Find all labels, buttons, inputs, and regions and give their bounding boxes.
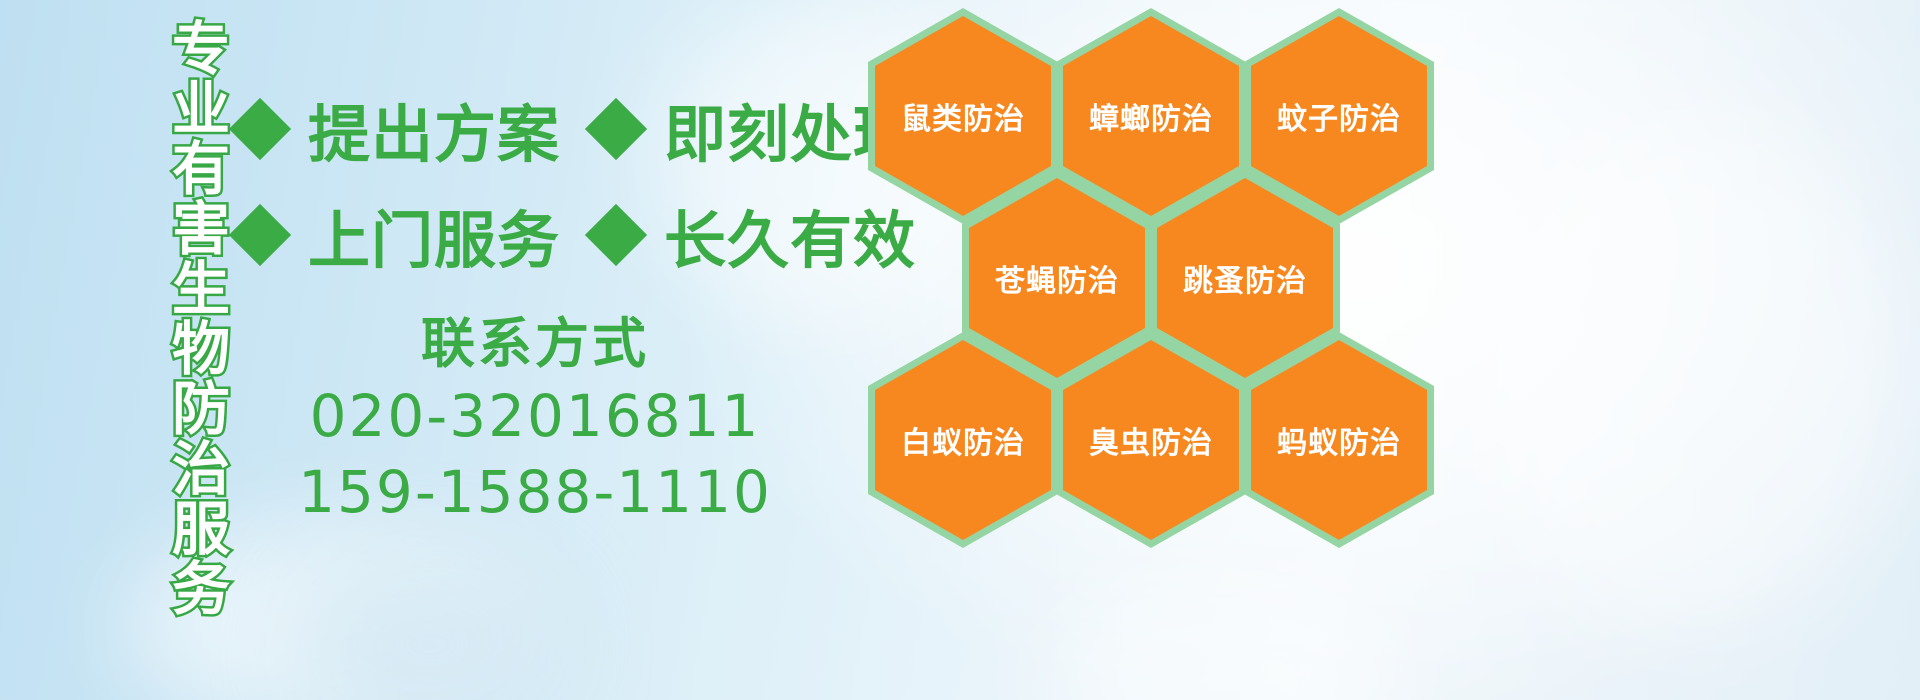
diamond-icon — [229, 204, 291, 266]
phone-number-mobile[interactable]: 159-1588-1110 — [255, 454, 815, 531]
service-label: 臭虫防治 — [1089, 418, 1213, 462]
service-hexagon-grid: 鼠类防治 蟑螂防治 蚊子防治 苍蝇防治 跳蚤防治 白蚁防 — [860, 0, 1480, 700]
contact-title: 联系方式 — [255, 310, 815, 378]
hexagon-fill: 鼠类防治 — [875, 16, 1051, 216]
service-label: 鼠类防治 — [901, 94, 1025, 138]
hexagon-fill: 苍蝇防治 — [969, 178, 1145, 378]
hexagon-fill: 跳蚤防治 — [1157, 178, 1333, 378]
hexagon-fill: 白蚁防治 — [875, 340, 1051, 540]
slogan-line-1: 提出方案 即刻处理 — [238, 84, 916, 174]
service-label: 白蚁防治 — [901, 418, 1025, 462]
slogan-item: 上门服务 — [308, 190, 560, 280]
service-label: 跳蚤防治 — [1183, 256, 1307, 300]
slogan-item: 提出方案 — [308, 84, 560, 174]
service-label: 蚂蚁防治 — [1277, 418, 1401, 462]
background-blur-shape — [1480, 120, 1910, 640]
background-blur-shape — [300, 560, 560, 700]
promo-banner: 专业有害生物防治服务 提出方案 即刻处理 上门服务 长久有效 联系方式 020-… — [0, 0, 1920, 700]
slogan-line-2: 上门服务 长久有效 — [238, 190, 916, 280]
contact-block: 联系方式 020-32016811 159-1588-1110 — [255, 310, 815, 531]
diamond-icon — [229, 98, 291, 160]
hexagon-fill: 蚂蚁防治 — [1251, 340, 1427, 540]
phone-number-landline[interactable]: 020-32016811 — [255, 378, 815, 455]
service-label: 蚊子防治 — [1277, 94, 1401, 138]
diamond-icon — [585, 204, 647, 266]
service-label: 蟑螂防治 — [1089, 94, 1213, 138]
hexagon-fill: 臭虫防治 — [1063, 340, 1239, 540]
hexagon-fill: 蟑螂防治 — [1063, 16, 1239, 216]
vertical-headline: 专业有害生物防治服务 — [140, 18, 224, 618]
hexagon-fill: 蚊子防治 — [1251, 16, 1427, 216]
service-label: 苍蝇防治 — [995, 256, 1119, 300]
diamond-icon — [585, 98, 647, 160]
